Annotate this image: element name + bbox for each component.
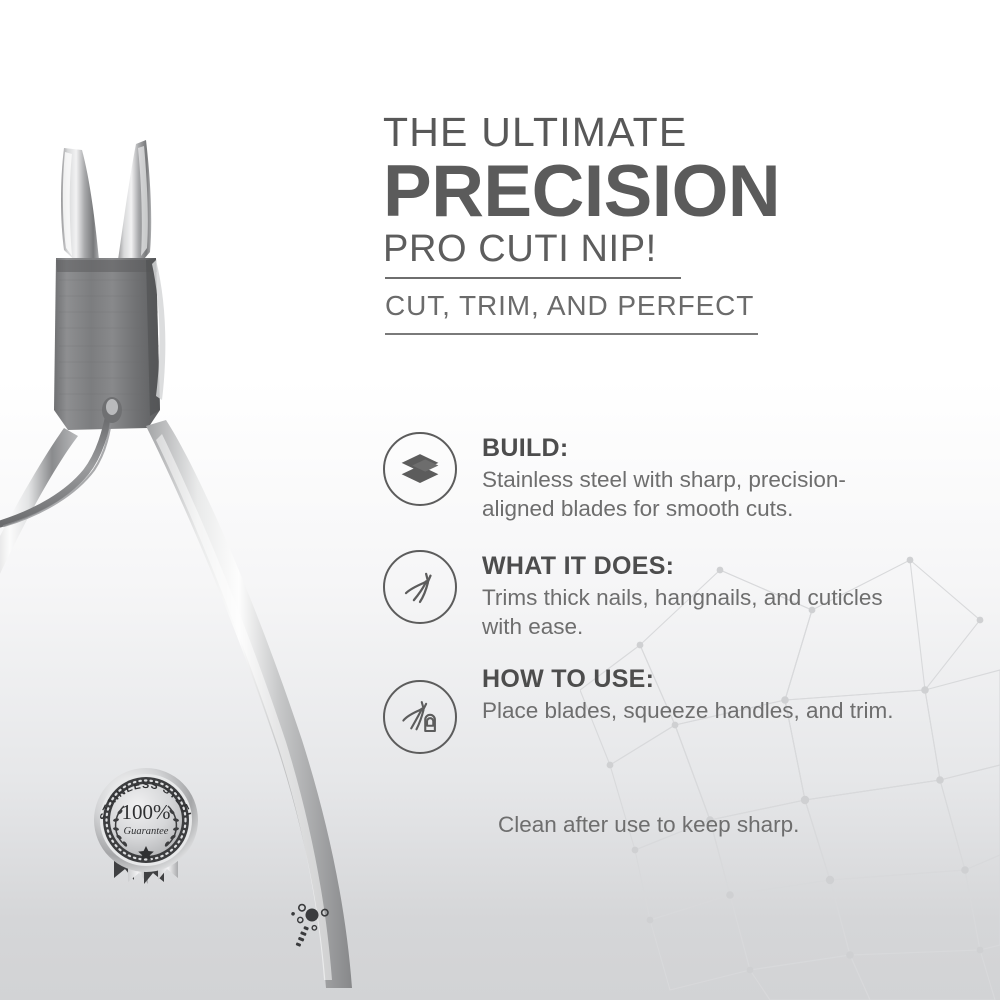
feature-item-how-to-use: HOW TO USE: Place blades, squeeze handle… — [383, 663, 943, 754]
feature-text-build: BUILD: Stainless steel with sharp, preci… — [482, 432, 902, 523]
feature-title: WHAT IT DOES: — [482, 552, 902, 582]
logo-etch-mark — [281, 898, 329, 952]
layers-icon — [383, 432, 457, 506]
feature-body: Stainless steel with sharp, precision-al… — [482, 465, 902, 524]
headline-line-2: PRECISION — [383, 157, 943, 226]
feature-body: Place blades, squeeze handles, and trim. — [482, 696, 894, 725]
headline-divider-bottom — [385, 333, 758, 335]
headline-divider-top — [385, 277, 681, 279]
infographic-canvas: STAINLESS STEEL — [0, 0, 1000, 1000]
cuticle-nipper-product-photo — [0, 110, 430, 1000]
nipper-icon — [383, 550, 457, 624]
headline-line-1: THE ULTIMATE — [383, 112, 943, 153]
headline-tagline: CUT, TRIM, AND PERFECT — [385, 288, 943, 323]
feature-body: Trims thick nails, hangnails, and cuticl… — [482, 583, 902, 642]
headline-block: THE ULTIMATE PRECISION PRO CUTI NIP! CUT… — [383, 112, 943, 335]
nipper-nail-icon — [383, 680, 457, 754]
feature-text-how-to-use: HOW TO USE: Place blades, squeeze handle… — [482, 663, 894, 725]
headline-line-3: PRO CUTI NIP! — [383, 230, 943, 270]
badge-percent: 100% — [122, 800, 171, 824]
feature-title: BUILD: — [482, 434, 902, 464]
feature-item-what-it-does: WHAT IT DOES: Trims thick nails, hangnai… — [383, 550, 943, 641]
feature-item-build: BUILD: Stainless steel with sharp, preci… — [383, 432, 943, 523]
feature-text-what-it-does: WHAT IT DOES: Trims thick nails, hangnai… — [482, 550, 902, 641]
feature-title: HOW TO USE: — [482, 665, 894, 695]
stainless-steel-guarantee-badge: STAINLESS STEEL — [84, 762, 208, 886]
feature-list: BUILD: Stainless steel with sharp, preci… — [383, 432, 943, 754]
closing-note: Clean after use to keep sharp. — [498, 810, 938, 839]
badge-guarantee: Guarantee — [124, 826, 169, 837]
content-column: THE ULTIMATE PRECISION PRO CUTI NIP! CUT… — [383, 0, 943, 1000]
